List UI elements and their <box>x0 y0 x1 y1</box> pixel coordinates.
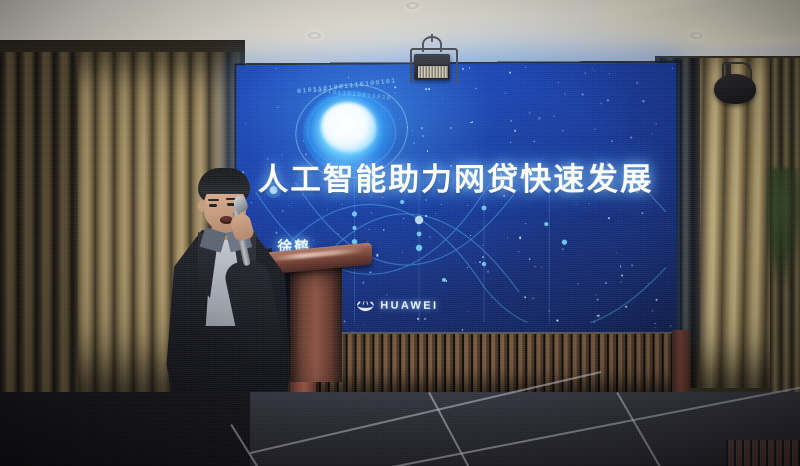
slide-star-dot <box>656 123 657 124</box>
slide-star-dot <box>655 327 657 329</box>
slide-star-dot <box>427 150 428 151</box>
slide-star-dot <box>462 68 464 70</box>
slide-star-dot <box>630 136 632 138</box>
slide-star-dot <box>609 73 611 75</box>
slide-star-dot <box>422 135 424 137</box>
slide-star-dot <box>564 94 565 95</box>
slide-star-dot <box>600 103 602 105</box>
slide-star-dot <box>558 82 560 84</box>
slide-star-dot <box>655 323 656 324</box>
presenter-ear <box>198 200 206 212</box>
stage-edge-trim <box>726 440 800 466</box>
slide-star-dot <box>607 99 609 101</box>
slide-star-dot <box>276 68 277 69</box>
slide-star-dot <box>510 142 511 143</box>
slide-star-dot <box>442 99 443 100</box>
slide-star-dot <box>529 112 530 113</box>
slide-star-dot <box>642 100 644 102</box>
slide-star-dot <box>562 130 564 132</box>
slide-star-dot <box>428 89 430 91</box>
slide-star-dot <box>462 329 463 330</box>
wall-mounted-speaker <box>712 58 760 106</box>
slide-star-dot <box>484 121 485 122</box>
stage-spotlight-fixture <box>404 34 460 88</box>
slide-star-dot <box>514 130 516 132</box>
huawei-petal-logo-icon <box>356 300 374 311</box>
slide-star-dot <box>592 69 593 70</box>
slide-star-dot <box>277 107 278 108</box>
binary-ring-bottom-text: 1001011010011010 <box>288 85 410 156</box>
slide-star-dot <box>581 93 583 95</box>
spotlight-lens <box>417 65 449 79</box>
slide-star-dot <box>593 70 594 71</box>
slide-star-dot <box>505 92 507 94</box>
downlight-icon <box>308 32 321 39</box>
slide-star-dot <box>509 72 511 74</box>
slide-star-dot <box>538 117 540 119</box>
slide-star-dot <box>363 324 364 325</box>
slide-star-dot <box>470 122 471 123</box>
presenter-hair-fringe <box>200 178 250 194</box>
slide-star-dot <box>245 123 246 124</box>
potted-plant <box>768 168 800 288</box>
slide-star-dot <box>491 72 492 73</box>
slide-star-dot <box>364 70 366 72</box>
speaker-cone <box>714 74 756 104</box>
slide-star-dot <box>651 133 652 134</box>
huawei-brand-lockup: HUAWEI <box>356 300 438 312</box>
slide-star-dot <box>525 67 526 68</box>
downlight-icon <box>406 2 419 9</box>
slide-star-dot <box>548 326 549 327</box>
slide-star-dot <box>611 140 612 141</box>
presentation-photo-scene: 0101101001110100101 1001011010011010 <box>0 0 800 466</box>
slide-star-dot <box>472 121 473 122</box>
slide-star-dot <box>636 82 638 84</box>
slide-star-dot <box>584 73 585 74</box>
slide-star-dot <box>533 140 535 142</box>
slide-star-dot <box>469 67 471 69</box>
slide-star-dot <box>421 127 423 129</box>
gold-pleated-curtain-left-shadow <box>0 52 78 404</box>
downlight-icon <box>690 32 703 39</box>
stage-floor-shadow-left <box>0 392 250 466</box>
slide-star-dot <box>239 147 240 148</box>
slide-star-dot <box>425 88 427 90</box>
slide-star-dot <box>475 87 477 89</box>
slide-star-dot <box>595 128 596 129</box>
slide-star-dot <box>670 325 672 327</box>
slide-star-dot <box>553 116 554 117</box>
slide-star-dot <box>672 68 673 69</box>
slide-star-dot <box>450 127 452 129</box>
slide-star-dot <box>510 119 512 121</box>
presenter-eye-left <box>209 204 217 207</box>
huawei-wordmark: HUAWEI <box>380 300 438 312</box>
